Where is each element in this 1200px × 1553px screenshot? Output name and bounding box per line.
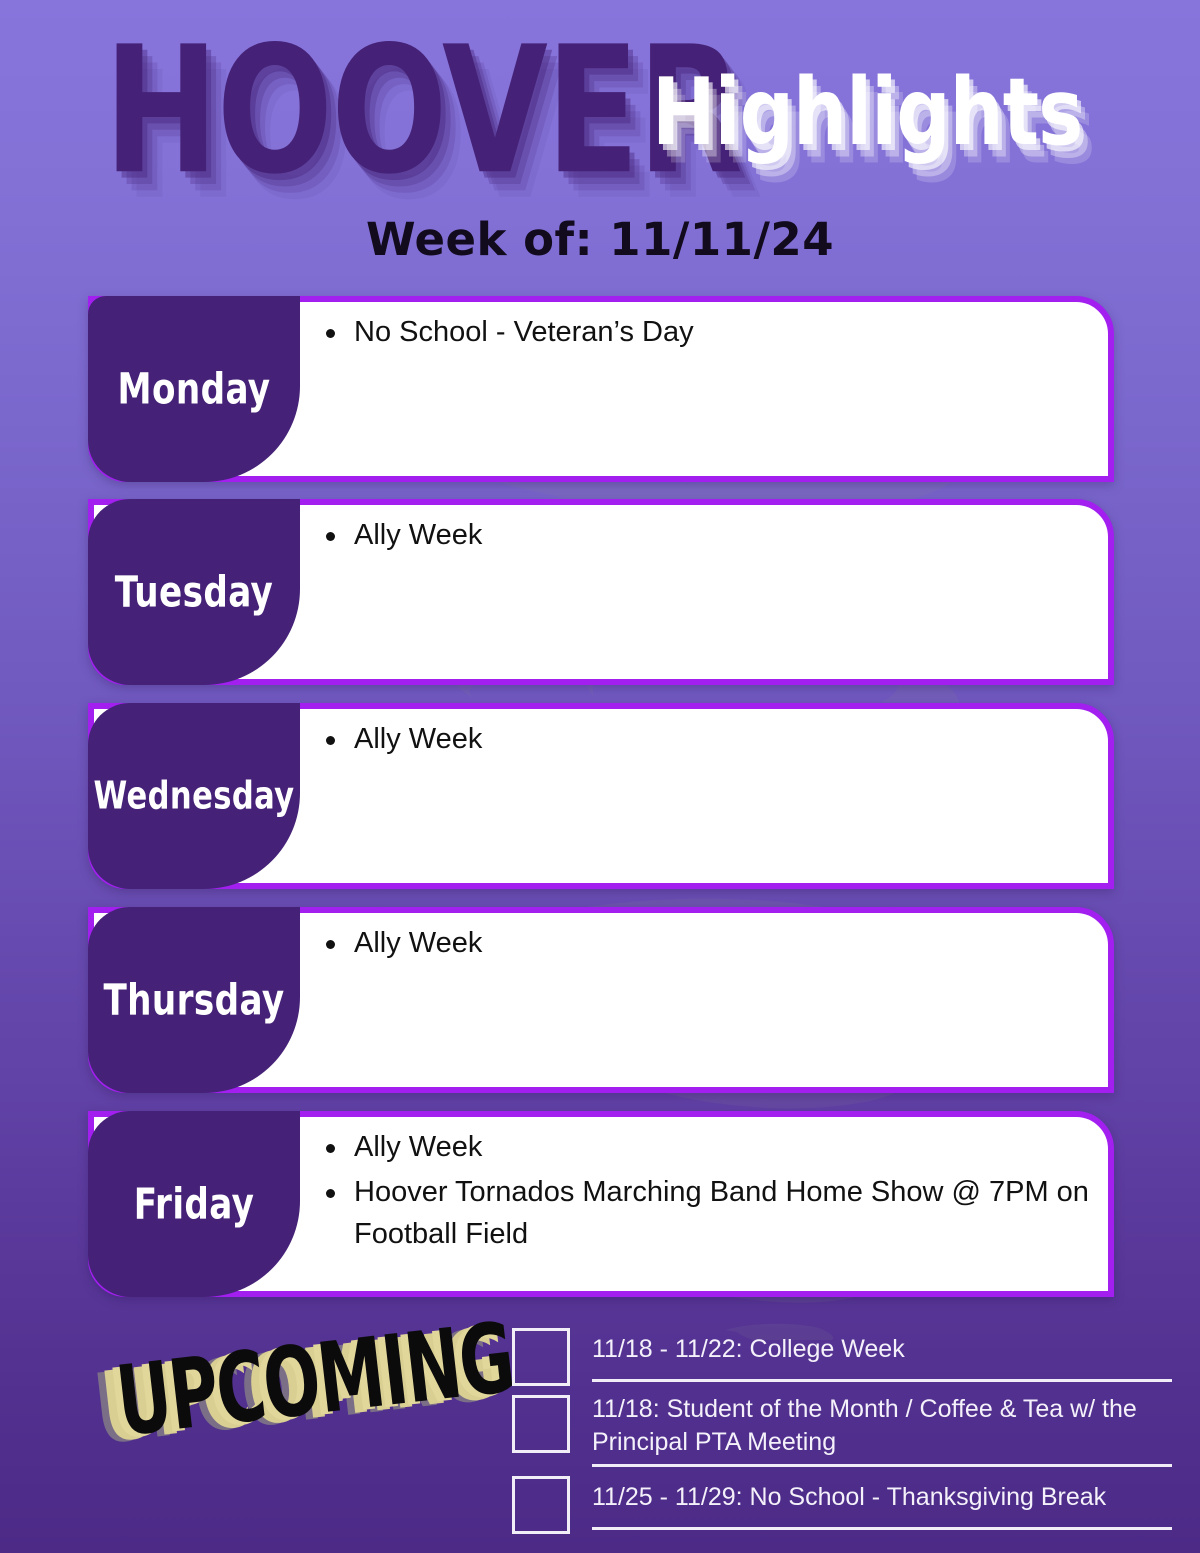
checkbox-icon[interactable] [512,1476,570,1534]
checklist-item-label: 11/18 - 11/22: College Week [592,1333,905,1366]
day-card-wednesday[interactable]: Wednesday Ally Week [88,703,1114,889]
day-card-friday[interactable]: Friday Ally Week Hoover Tornados Marchin… [88,1111,1114,1297]
bullet-item: Ally Week [312,923,1094,965]
day-bullets-thursday: Ally Week [312,923,1094,968]
checkbox-icon[interactable] [512,1395,570,1453]
day-label-thursday: Thursday [103,975,284,1024]
checklist-row[interactable]: 11/18: Student of the Month / Coffee & T… [512,1393,1172,1467]
bullet-item: Ally Week [312,719,1094,761]
bullet-item: Hoover Tornados Marching Band Home Show … [312,1172,1094,1256]
upcoming-heading-text: UPCOMING [112,1309,518,1450]
day-bullets-wednesday: Ally Week [312,719,1094,764]
upcoming-checklist: 11/18 - 11/22: College Week 11/18: Stude… [512,1326,1172,1541]
bullet-item: Ally Week [312,515,1094,557]
bullet-item: No School - Veteran’s Day [312,312,1094,354]
day-label-monday: Monday [118,364,271,413]
day-card-tuesday[interactable]: Tuesday Ally Week [88,499,1114,685]
checklist-text-wrap: 11/18: Student of the Month / Coffee & T… [592,1393,1172,1467]
checklist-row[interactable]: 11/25 - 11/29: No School - Thanksgiving … [512,1474,1172,1534]
page-header: HOOVER Highlights [0,0,1200,210]
day-tab-wednesday: Wednesday [88,703,300,889]
checkbox-icon[interactable] [512,1328,570,1386]
checklist-item-label: 11/25 - 11/29: No School - Thanksgiving … [592,1481,1106,1514]
day-bullets-tuesday: Ally Week [312,515,1094,560]
checklist-row[interactable]: 11/18 - 11/22: College Week [512,1326,1172,1386]
day-tab-tuesday: Tuesday [88,499,300,685]
day-tab-thursday: Thursday [88,907,300,1093]
day-card-monday[interactable]: Monday No School - Veteran’s Day [88,296,1114,482]
checklist-text-wrap: 11/18 - 11/22: College Week [592,1326,1172,1382]
checklist-item-label: 11/18: Student of the Month / Coffee & T… [592,1393,1172,1458]
day-tab-friday: Friday [88,1111,300,1297]
day-label-tuesday: Tuesday [115,567,274,616]
day-tab-monday: Monday [88,296,300,482]
day-bullets-monday: No School - Veteran’s Day [312,312,1094,357]
upcoming-heading: UPCOMING UPCOMING UPCOMING UPCOMING [88,1348,488,1498]
day-bullets-friday: Ally Week Hoover Tornados Marching Band … [312,1127,1094,1258]
title-hoover: HOOVER [104,24,741,199]
day-card-thursday[interactable]: Thursday Ally Week [88,907,1114,1093]
day-label-wednesday: Wednesday [94,774,295,819]
bullet-item: Ally Week [312,1127,1094,1169]
week-of-label: Week of: 11/11/24 [0,213,1200,266]
checklist-text-wrap: 11/25 - 11/29: No School - Thanksgiving … [592,1474,1172,1530]
title-highlights: Highlights [652,66,1082,159]
day-label-friday: Friday [134,1179,255,1228]
